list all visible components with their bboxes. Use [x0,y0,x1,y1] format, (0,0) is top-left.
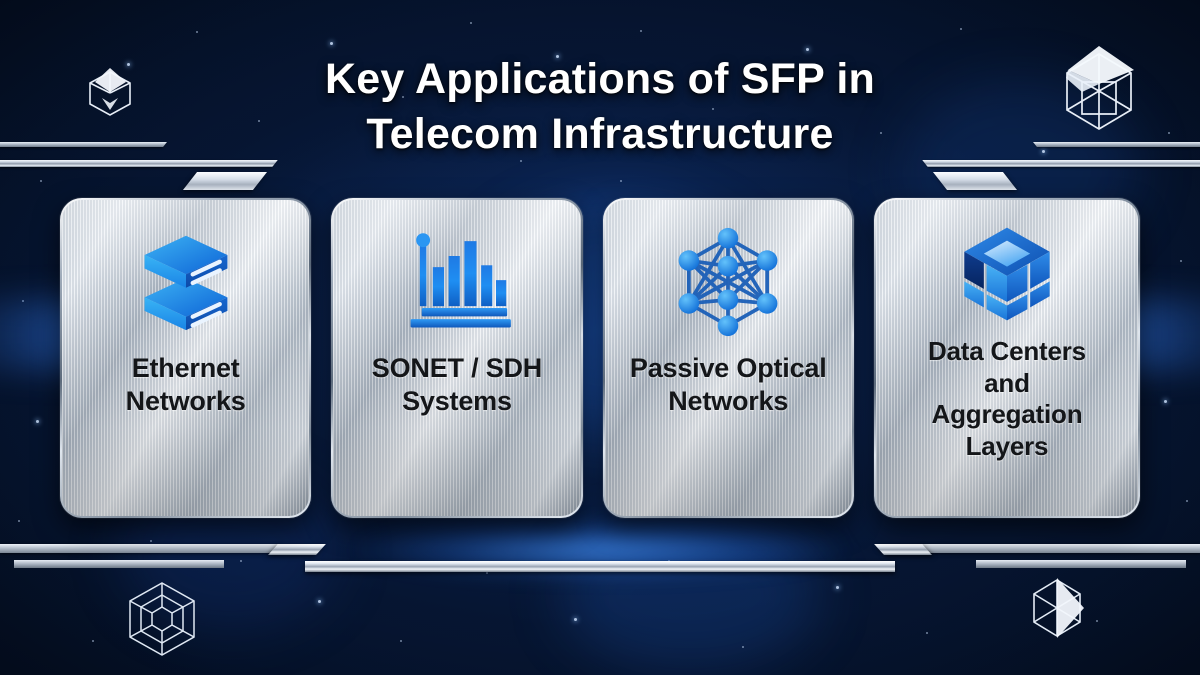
card-passive-optical-networks[interactable]: Passive Optical Networks [603,198,854,518]
mesh-network-icon [668,226,788,338]
bottom-rail [0,540,1200,580]
rail-glow [360,522,840,578]
rail-center [305,561,895,572]
label-line: Systems [372,385,542,418]
label-line: Aggregation [928,399,1086,431]
rail-outer-left-2 [14,560,224,568]
page-title: Key Applications of SFP in Telecom Infra… [0,52,1200,162]
rail-diagonal-right [874,544,932,555]
rail-outer-left [0,544,280,553]
rail-outer-right [920,544,1200,553]
label-line: and [928,368,1086,400]
title-line-1: Key Applications of SFP in [325,55,875,103]
title-line-2: Telecom Infrastructure [0,107,1200,162]
label-line: Networks [126,385,246,418]
card-label-passive-optical-networks: Passive Optical Networks [620,352,837,418]
card-label-data-centers-aggregation-layers: Data Centers and Aggregation Layers [918,336,1096,463]
cube-3d-icon [947,222,1067,326]
card-label-ethernet-networks: Ethernet Networks [116,352,256,418]
label-line: Layers [928,431,1086,463]
label-line: Passive Optical [630,352,827,385]
label-line: Data Centers [928,336,1086,368]
rail-diagonal-left [268,544,326,555]
wireframe-cube-split-icon [1022,572,1092,644]
card-label-sonet-sdh-systems: SONET / SDH Systems [362,352,552,418]
card-data-centers-aggregation-layers[interactable]: Data Centers and Aggregation Layers [874,198,1140,518]
infographic-canvas: Key Applications of SFP in Telecom Infra… [0,0,1200,675]
bar-chart-icon [397,226,517,338]
label-line: Networks [630,385,827,418]
card-ethernet-networks[interactable]: Ethernet Networks [60,198,311,518]
label-line: Ethernet [126,352,246,385]
server-stack-icon [126,226,246,338]
wireframe-nested-hexagon-icon [122,578,202,660]
rail-outer-right-2 [976,560,1186,568]
card-sonet-sdh-systems[interactable]: SONET / SDH Systems [331,198,582,518]
cards-row: Ethernet Networks [60,198,1140,518]
label-line: SONET / SDH [372,352,542,385]
